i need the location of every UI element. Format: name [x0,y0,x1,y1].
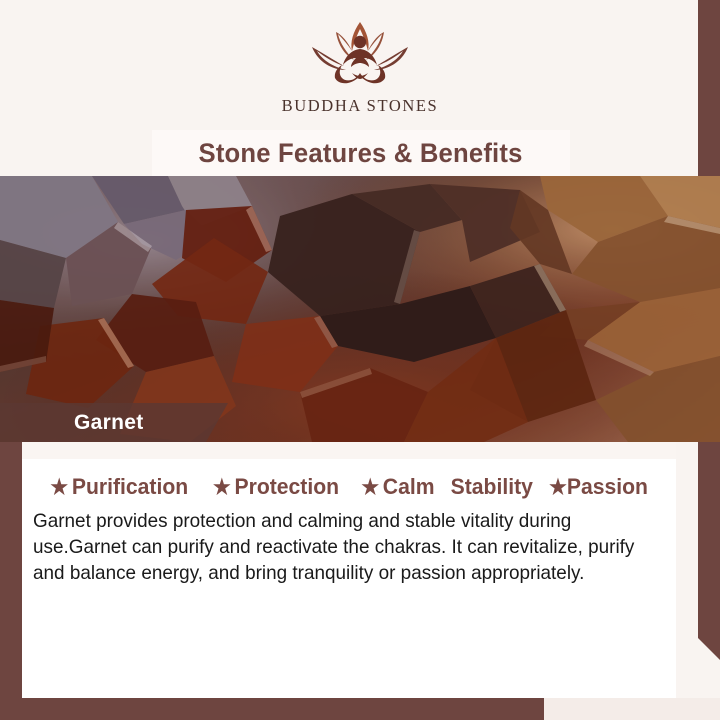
stone-name-banner: Garnet [0,403,228,442]
content-card: ★ Purification ★ Protection ★ Calm Stabi… [22,442,676,698]
benefit-item-purification: ★ Purification [51,474,189,500]
benefit-item-stability: Stability [451,474,533,500]
infographic-page: BUDDHA STONES Stone Features & Benefits [0,0,720,720]
benefit-label: Purification [72,474,188,500]
benefit-item-calm: ★ Calm [361,474,434,500]
benefit-label: Stability [451,474,533,500]
frame-bottom-right-notch [544,698,720,720]
stone-description: Garnet provides protection and calming a… [33,508,654,586]
garnet-crystal-cluster-photo [0,176,720,442]
header: BUDDHA STONES Stone Features & Benefits [22,0,698,176]
brand-name: BUDDHA STONES [282,96,439,116]
benefit-label: Passion [567,474,648,500]
star-icon: ★ [213,477,231,498]
card-top-strip [22,442,676,459]
page-title: Stone Features & Benefits [199,138,523,169]
benefit-item-passion: ★ Passion [550,474,649,500]
benefit-label: Calm [383,474,435,500]
stone-name: Garnet [74,411,144,435]
star-icon: ★ [550,477,568,498]
lotus-meditation-logo-icon [284,18,436,92]
benefits-list: ★ Purification ★ Protection ★ Calm Stabi… [22,474,676,500]
benefit-item-protection: ★ Protection [213,474,339,500]
brand-logo: BUDDHA STONES [22,18,698,116]
star-icon: ★ [361,477,379,498]
star-icon: ★ [51,477,69,498]
benefit-label: Protection [234,474,339,500]
page-title-banner: Stone Features & Benefits [152,130,570,176]
